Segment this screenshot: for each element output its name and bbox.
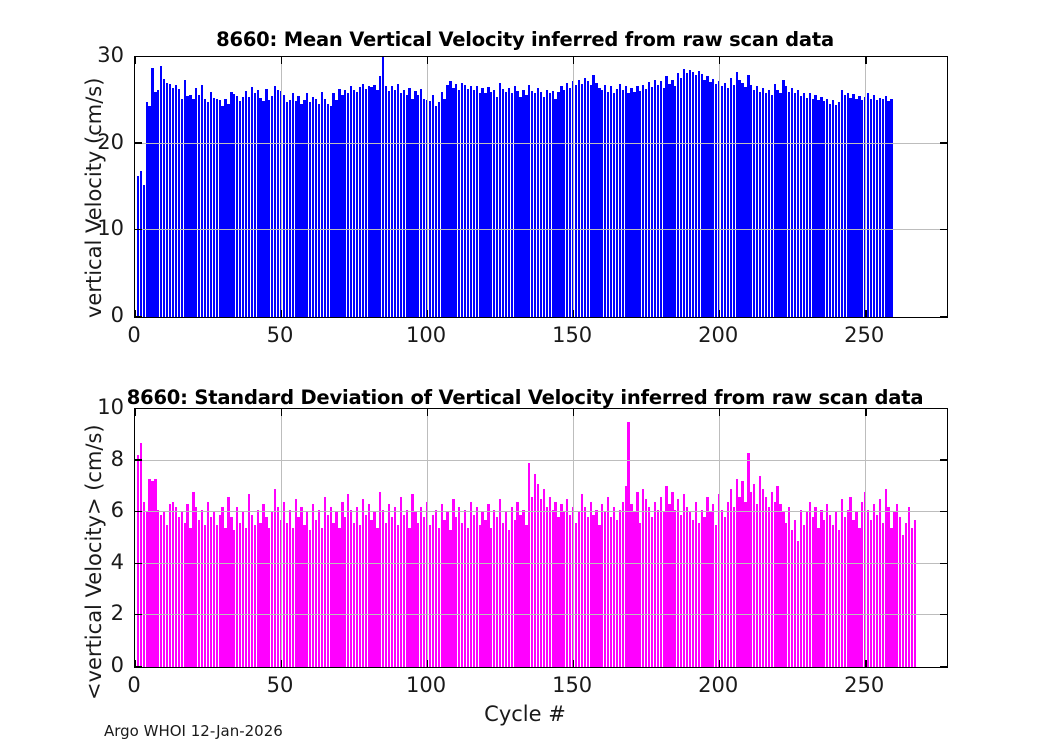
bar bbox=[201, 510, 203, 667]
bar bbox=[604, 85, 606, 317]
bar bbox=[484, 93, 486, 317]
bar bbox=[592, 515, 594, 667]
bar bbox=[557, 517, 559, 667]
bar bbox=[172, 502, 174, 667]
bar bbox=[388, 504, 390, 667]
bar bbox=[703, 80, 705, 317]
bar bbox=[481, 512, 483, 667]
bar bbox=[435, 510, 437, 667]
bar bbox=[406, 510, 408, 667]
bar bbox=[175, 85, 177, 317]
bar bbox=[169, 84, 171, 317]
bar bbox=[885, 489, 887, 667]
x-tick-label: 200 bbox=[678, 325, 758, 346]
bar bbox=[157, 510, 159, 667]
bar bbox=[782, 80, 784, 317]
bar bbox=[481, 88, 483, 317]
y-tick-mark bbox=[135, 142, 142, 143]
bar bbox=[733, 85, 735, 317]
bar bbox=[695, 75, 697, 317]
bar bbox=[540, 92, 542, 317]
bar bbox=[540, 499, 542, 667]
bar bbox=[648, 507, 650, 667]
bar bbox=[765, 497, 767, 667]
bar bbox=[347, 494, 349, 667]
bar bbox=[315, 99, 317, 317]
bar bbox=[309, 102, 311, 317]
bar bbox=[470, 86, 472, 317]
x-tick-label: 250 bbox=[824, 675, 904, 696]
bar bbox=[554, 502, 556, 667]
bar bbox=[838, 530, 840, 667]
bar bbox=[373, 512, 375, 667]
gridline-vertical bbox=[865, 409, 866, 667]
bar bbox=[359, 87, 361, 317]
bar bbox=[146, 102, 148, 317]
bar bbox=[184, 523, 186, 667]
bar bbox=[324, 99, 326, 317]
bar bbox=[715, 84, 717, 317]
bar bbox=[496, 517, 498, 667]
gridline-vertical bbox=[865, 57, 866, 317]
gridline-horizontal bbox=[135, 460, 947, 461]
bar bbox=[516, 91, 518, 317]
bar bbox=[216, 525, 218, 667]
bar bbox=[213, 512, 215, 667]
bar bbox=[744, 502, 746, 667]
bar bbox=[613, 93, 615, 317]
bar bbox=[730, 78, 732, 317]
bar bbox=[207, 502, 209, 667]
bar bbox=[887, 507, 889, 667]
bar bbox=[154, 92, 156, 317]
bar bbox=[706, 497, 708, 667]
y-tick-mark bbox=[135, 459, 142, 460]
bar bbox=[198, 520, 200, 667]
bar bbox=[259, 98, 261, 317]
bar bbox=[610, 517, 612, 667]
bar bbox=[806, 98, 808, 317]
bar bbox=[554, 99, 556, 317]
bar bbox=[844, 95, 846, 317]
gridline-vertical bbox=[281, 409, 282, 667]
bar bbox=[423, 99, 425, 317]
bar bbox=[341, 95, 343, 317]
bar bbox=[394, 90, 396, 317]
bar bbox=[283, 502, 285, 667]
bar bbox=[140, 171, 142, 317]
bar bbox=[268, 100, 270, 317]
bar bbox=[435, 106, 437, 317]
bar bbox=[648, 82, 650, 317]
bar bbox=[300, 507, 302, 667]
bar bbox=[195, 507, 197, 667]
x-tick-label: 100 bbox=[386, 325, 466, 346]
bar bbox=[519, 515, 521, 667]
bar bbox=[817, 528, 819, 667]
bar bbox=[309, 530, 311, 667]
bar bbox=[794, 93, 796, 317]
bar bbox=[519, 97, 521, 317]
bar bbox=[534, 474, 536, 668]
bar bbox=[432, 515, 434, 667]
bar bbox=[350, 510, 352, 667]
bar bbox=[683, 494, 685, 667]
bar bbox=[353, 523, 355, 667]
bar bbox=[695, 502, 697, 667]
bar bbox=[727, 88, 729, 317]
bar bbox=[417, 95, 419, 317]
bar bbox=[855, 512, 857, 667]
bar bbox=[479, 93, 481, 317]
bar bbox=[902, 535, 904, 667]
bar bbox=[376, 528, 378, 667]
bar bbox=[756, 504, 758, 667]
bar bbox=[730, 489, 732, 667]
bar bbox=[771, 95, 773, 317]
bar bbox=[715, 525, 717, 667]
bar bbox=[330, 507, 332, 667]
bar bbox=[332, 523, 334, 667]
bar bbox=[370, 87, 372, 317]
x-tick-mark bbox=[719, 310, 720, 317]
bar bbox=[493, 510, 495, 667]
bar-series-mean bbox=[135, 57, 947, 317]
bar bbox=[230, 92, 232, 317]
bar bbox=[654, 80, 656, 317]
x-tick-mark bbox=[135, 57, 136, 64]
bar bbox=[867, 510, 869, 667]
bar bbox=[642, 489, 644, 667]
bar bbox=[689, 70, 691, 317]
bar bbox=[861, 502, 863, 667]
bar bbox=[703, 517, 705, 667]
bar bbox=[312, 504, 314, 667]
bar bbox=[148, 106, 150, 317]
bar bbox=[741, 481, 743, 667]
bar bbox=[835, 105, 837, 317]
bar bbox=[668, 84, 670, 317]
bar bbox=[528, 85, 530, 317]
bar bbox=[511, 93, 513, 317]
bar bbox=[382, 57, 384, 317]
bar bbox=[221, 507, 223, 667]
bar bbox=[476, 507, 478, 667]
bar bbox=[657, 85, 659, 317]
bar bbox=[645, 89, 647, 317]
bar bbox=[750, 85, 752, 317]
bar bbox=[487, 504, 489, 667]
bar bbox=[774, 502, 776, 667]
bar bbox=[370, 520, 372, 667]
bar bbox=[335, 100, 337, 317]
bar bbox=[838, 102, 840, 317]
bar bbox=[882, 523, 884, 667]
x-tick-label: 100 bbox=[386, 675, 466, 696]
gridline-horizontal bbox=[135, 563, 947, 564]
bar bbox=[817, 100, 819, 317]
bar bbox=[835, 512, 837, 667]
bar bbox=[674, 86, 676, 317]
y-tick-label: 4 bbox=[111, 552, 124, 573]
bar bbox=[531, 91, 533, 317]
bar bbox=[639, 91, 641, 317]
bar bbox=[590, 502, 592, 667]
x-tick-mark bbox=[427, 310, 428, 317]
bar bbox=[794, 520, 796, 667]
bar bbox=[382, 510, 384, 667]
bar bbox=[286, 102, 288, 317]
bar bbox=[812, 517, 814, 667]
bar bbox=[668, 504, 670, 667]
bar bbox=[733, 507, 735, 667]
bar bbox=[841, 499, 843, 667]
y-tick-mark bbox=[940, 459, 947, 460]
bar bbox=[809, 93, 811, 317]
bar bbox=[233, 530, 235, 667]
bar bbox=[236, 96, 238, 317]
bar bbox=[175, 507, 177, 667]
bar bbox=[356, 92, 358, 317]
x-tick-label: 0 bbox=[94, 325, 174, 346]
bar bbox=[531, 497, 533, 667]
bar bbox=[569, 515, 571, 667]
bar bbox=[581, 494, 583, 667]
bar bbox=[458, 507, 460, 667]
bar bbox=[464, 510, 466, 667]
bar bbox=[163, 512, 165, 667]
bar bbox=[616, 520, 618, 667]
bar bbox=[601, 504, 603, 667]
bar bbox=[516, 502, 518, 667]
bar bbox=[806, 512, 808, 667]
bar bbox=[709, 82, 711, 317]
bar bbox=[762, 489, 764, 667]
bar bbox=[189, 95, 191, 317]
bar bbox=[636, 492, 638, 667]
bar bbox=[379, 492, 381, 667]
bar bbox=[186, 504, 188, 667]
bar bbox=[178, 517, 180, 667]
bar bbox=[400, 497, 402, 667]
bar bbox=[262, 101, 264, 317]
bar bbox=[484, 520, 486, 667]
bar bbox=[277, 90, 279, 317]
y-tick-mark bbox=[940, 229, 947, 230]
bar bbox=[476, 86, 478, 317]
bar bbox=[210, 517, 212, 667]
bar bbox=[417, 523, 419, 667]
y-axis-title-mean: vertical Velocity (cm/s) bbox=[82, 78, 106, 318]
chart-title-mean: 8660: Mean Vertical Velocity inferred fr… bbox=[0, 28, 1050, 51]
bar bbox=[791, 530, 793, 667]
chart-title-std: 8660: Standard Deviation of Vertical Vel… bbox=[0, 386, 1050, 409]
bar bbox=[365, 89, 367, 317]
bar bbox=[289, 510, 291, 667]
bar bbox=[189, 528, 191, 667]
bar bbox=[756, 86, 758, 317]
bar bbox=[376, 90, 378, 317]
bar bbox=[692, 520, 694, 667]
bar bbox=[738, 497, 740, 667]
bar bbox=[873, 95, 875, 317]
bar bbox=[236, 507, 238, 667]
bar bbox=[204, 525, 206, 667]
bar bbox=[674, 510, 676, 667]
y-tick-label: 20 bbox=[97, 132, 124, 153]
bar bbox=[344, 517, 346, 667]
bar bbox=[849, 497, 851, 667]
bar bbox=[899, 517, 901, 667]
bar bbox=[852, 520, 854, 667]
bar bbox=[578, 512, 580, 667]
bar bbox=[584, 78, 586, 317]
bar bbox=[385, 523, 387, 667]
bar bbox=[712, 79, 714, 317]
bar bbox=[809, 502, 811, 667]
gridline-vertical bbox=[573, 409, 574, 667]
bar bbox=[493, 90, 495, 317]
bar bbox=[242, 512, 244, 667]
bar bbox=[788, 507, 790, 667]
bar bbox=[490, 92, 492, 317]
bar bbox=[560, 504, 562, 667]
bar bbox=[879, 499, 881, 667]
bar bbox=[496, 97, 498, 317]
bar bbox=[812, 99, 814, 317]
bar bbox=[552, 510, 554, 667]
bar bbox=[388, 91, 390, 317]
bar bbox=[590, 85, 592, 317]
bar bbox=[575, 523, 577, 667]
bar bbox=[598, 88, 600, 317]
bar bbox=[213, 98, 215, 317]
y-tick-mark bbox=[940, 511, 947, 512]
bar bbox=[265, 517, 267, 667]
bar bbox=[166, 525, 168, 667]
bar bbox=[867, 93, 869, 317]
bar bbox=[847, 93, 849, 317]
bar bbox=[630, 504, 632, 667]
bar bbox=[595, 83, 597, 317]
y-tick-mark bbox=[940, 408, 947, 409]
x-tick-mark bbox=[865, 57, 866, 64]
bar bbox=[251, 87, 253, 317]
bar bbox=[172, 88, 174, 317]
bar bbox=[411, 99, 413, 317]
bar bbox=[353, 90, 355, 317]
subplot-mean-vertical-velocity: 8660: Mean Vertical Velocity inferred fr… bbox=[0, 0, 1050, 360]
bar bbox=[151, 481, 153, 667]
bar bbox=[803, 93, 805, 317]
bar bbox=[259, 523, 261, 667]
bar bbox=[779, 93, 781, 317]
bar bbox=[242, 97, 244, 317]
bar bbox=[747, 453, 749, 667]
bar bbox=[330, 106, 332, 317]
bar bbox=[625, 486, 627, 667]
bar bbox=[219, 515, 221, 667]
bar bbox=[592, 75, 594, 317]
bar bbox=[195, 88, 197, 317]
bar bbox=[876, 100, 878, 317]
bar bbox=[762, 88, 764, 317]
bar bbox=[785, 86, 787, 317]
bar bbox=[479, 525, 481, 667]
bar bbox=[178, 89, 180, 317]
bar bbox=[771, 492, 773, 667]
bar bbox=[522, 90, 524, 317]
gridline-vertical bbox=[719, 57, 720, 317]
bar bbox=[446, 85, 448, 317]
bar bbox=[443, 520, 445, 667]
bar bbox=[464, 85, 466, 317]
bar bbox=[651, 517, 653, 667]
bar bbox=[826, 504, 828, 667]
bar bbox=[192, 99, 194, 317]
bar bbox=[154, 479, 156, 667]
bar bbox=[855, 99, 857, 317]
bar bbox=[800, 96, 802, 317]
bar bbox=[663, 512, 665, 667]
bar bbox=[803, 525, 805, 667]
bar bbox=[245, 91, 247, 317]
bar bbox=[420, 507, 422, 667]
bar bbox=[160, 515, 162, 667]
y-tick-mark bbox=[940, 316, 947, 317]
bar bbox=[826, 99, 828, 317]
bar bbox=[709, 512, 711, 667]
x-tick-mark bbox=[573, 660, 574, 667]
bar bbox=[303, 525, 305, 667]
bar bbox=[341, 502, 343, 667]
bar bbox=[461, 83, 463, 317]
bar bbox=[230, 517, 232, 667]
bar bbox=[785, 523, 787, 667]
bar bbox=[613, 507, 615, 667]
bar bbox=[332, 93, 334, 317]
bar bbox=[265, 89, 267, 317]
bar bbox=[289, 100, 291, 317]
y-tick-label: 30 bbox=[97, 45, 124, 66]
bar bbox=[581, 84, 583, 317]
bar bbox=[268, 528, 270, 667]
bar bbox=[277, 507, 279, 667]
bar bbox=[654, 502, 656, 667]
bar bbox=[549, 93, 551, 317]
gridline-horizontal bbox=[135, 511, 947, 512]
bar bbox=[455, 517, 457, 667]
bar bbox=[295, 101, 297, 317]
bar bbox=[911, 528, 913, 667]
gridline-horizontal bbox=[135, 229, 947, 230]
bar bbox=[829, 104, 831, 317]
bar bbox=[441, 504, 443, 667]
bar bbox=[549, 497, 551, 667]
bar bbox=[219, 100, 221, 317]
bar bbox=[563, 90, 565, 317]
bar bbox=[820, 97, 822, 317]
bar bbox=[163, 79, 165, 317]
plot-area-mean bbox=[134, 56, 948, 318]
bar bbox=[686, 507, 688, 667]
bar bbox=[823, 101, 825, 317]
bar bbox=[224, 99, 226, 317]
bar bbox=[671, 492, 673, 667]
bar bbox=[470, 502, 472, 667]
y-tick-label: 6 bbox=[111, 500, 124, 521]
bar bbox=[461, 523, 463, 667]
